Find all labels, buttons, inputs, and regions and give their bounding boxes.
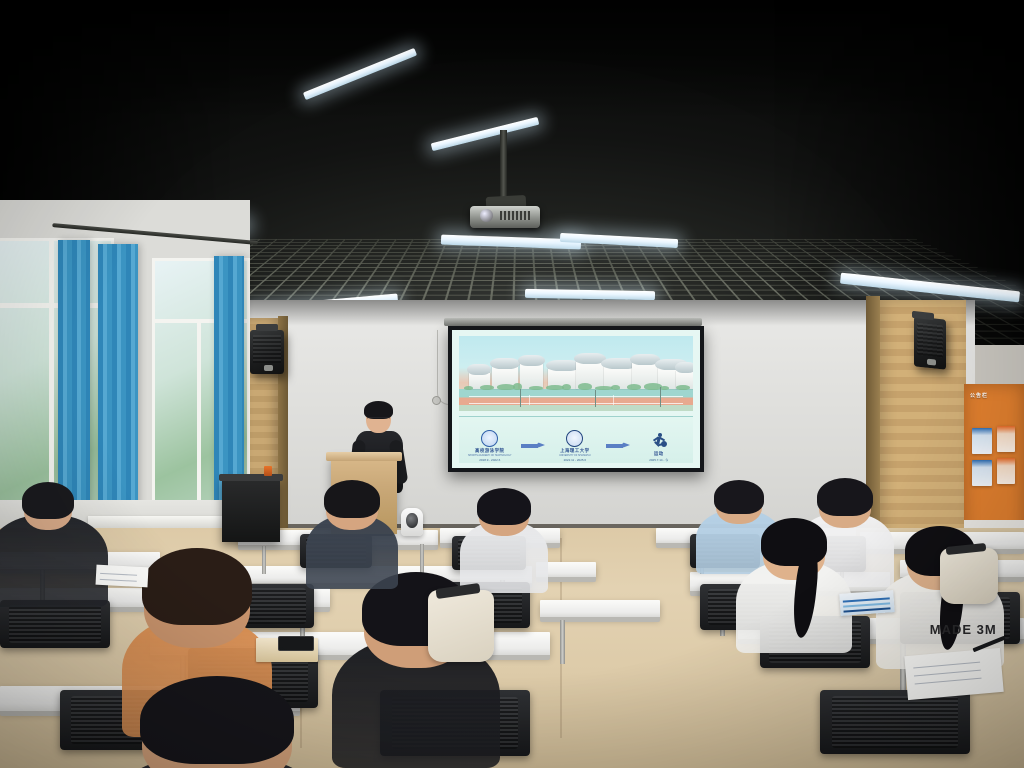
hair: [22, 482, 74, 519]
university-seal-1-icon: [481, 430, 498, 447]
podium-top: [326, 452, 402, 461]
wall-speaker-left: [250, 330, 284, 374]
speaker-logo: [927, 358, 936, 365]
timeline-item-0: 高校游泳学院 SPORTS ACADEMY OF TECHNOLOGY 2018…: [462, 430, 518, 462]
smartphone[interactable]: [278, 636, 314, 651]
shirt-text: MADE 3M: [930, 622, 997, 637]
timeline-1-en: UNIVERSITY OF SHANGHAI: [547, 454, 603, 457]
poster-orange-1[interactable]: [997, 426, 1015, 452]
projector-lens-icon: [480, 209, 493, 222]
poster-orange-2[interactable]: [997, 458, 1015, 484]
speaker-grill: [917, 323, 943, 358]
orange-cup: [264, 466, 272, 476]
screen-roller-case: [444, 318, 702, 326]
hair: [714, 480, 764, 514]
bulletin-board-title: 公告栏: [970, 392, 988, 399]
desk-leg-1: [420, 544, 424, 574]
papers: [904, 648, 1003, 700]
desk-leg-11: [560, 620, 565, 664]
arrow-right-icon-2: [606, 442, 629, 449]
timeline-item-2: 运动 2025.7.14 - 今: [631, 433, 687, 462]
backpack-beige: [428, 590, 494, 662]
hair: [324, 480, 380, 518]
chair-11[interactable]: [820, 690, 970, 754]
timeline-0-en: SPORTS ACADEMY OF TECHNOLOGY: [462, 454, 518, 457]
av-cabinet[interactable]: [222, 478, 280, 542]
projector-vent: [500, 211, 530, 220]
wall-speaker-right: [914, 316, 946, 369]
timeline-2-date: 2025.7.14 - 今: [631, 458, 687, 462]
slide-campus-photo: [459, 336, 692, 412]
slide-sports-court: [459, 389, 692, 412]
speaker-left-bracket: [256, 324, 278, 331]
student-left-front-black-jacket: [0, 482, 108, 620]
desk-camera: [401, 508, 423, 536]
speaker-grill: [253, 335, 280, 363]
hair: [477, 488, 531, 525]
timeline-0-date: 2018.9 - 2022.6: [462, 458, 518, 462]
papers-left: [96, 565, 149, 588]
desk-12: [540, 600, 660, 618]
hair: [140, 676, 294, 764]
runner-icon: [651, 433, 667, 450]
backpack-beige-right: [940, 548, 998, 604]
hair: [817, 478, 873, 516]
student-ponytail-near: [736, 518, 852, 670]
projector: [470, 196, 540, 230]
university-seal-2-icon: [566, 430, 583, 447]
projection-screen[interactable]: 高校游泳学院 SPORTS ACADEMY OF TECHNOLOGY 2018…: [448, 326, 704, 472]
poster-blue-2[interactable]: [972, 460, 992, 486]
arrow-right-icon-1: [521, 442, 544, 449]
speaker-logo: [264, 365, 273, 371]
glasses-icon: [367, 417, 390, 423]
timeline-item-1: 上海理工大学 UNIVERSITY OF SHANGHAI 2022.11 - …: [547, 430, 603, 462]
student-midrow-navy: [306, 480, 398, 602]
hair: [142, 548, 252, 625]
cable-clip: [432, 396, 441, 405]
poster-blue-1[interactable]: [972, 428, 992, 454]
screen-surface: 高校游泳学院 SPORTS ACADEMY OF TECHNOLOGY 2018…: [452, 330, 700, 468]
student-bottom-center: [112, 676, 322, 768]
slide-timeline-band: 高校游泳学院 SPORTS ACADEMY OF TECHNOLOGY 2018…: [459, 416, 692, 464]
blue-folder: [839, 590, 894, 616]
av-cabinet-top: [219, 474, 283, 481]
timeline-2-cn: 运动: [631, 451, 687, 457]
timeline-1-date: 2022.11 - 2025.6: [547, 458, 603, 462]
classroom-photo: 高校游泳学院 SPORTS ACADEMY OF TECHNOLOGY 2018…: [0, 0, 1024, 768]
